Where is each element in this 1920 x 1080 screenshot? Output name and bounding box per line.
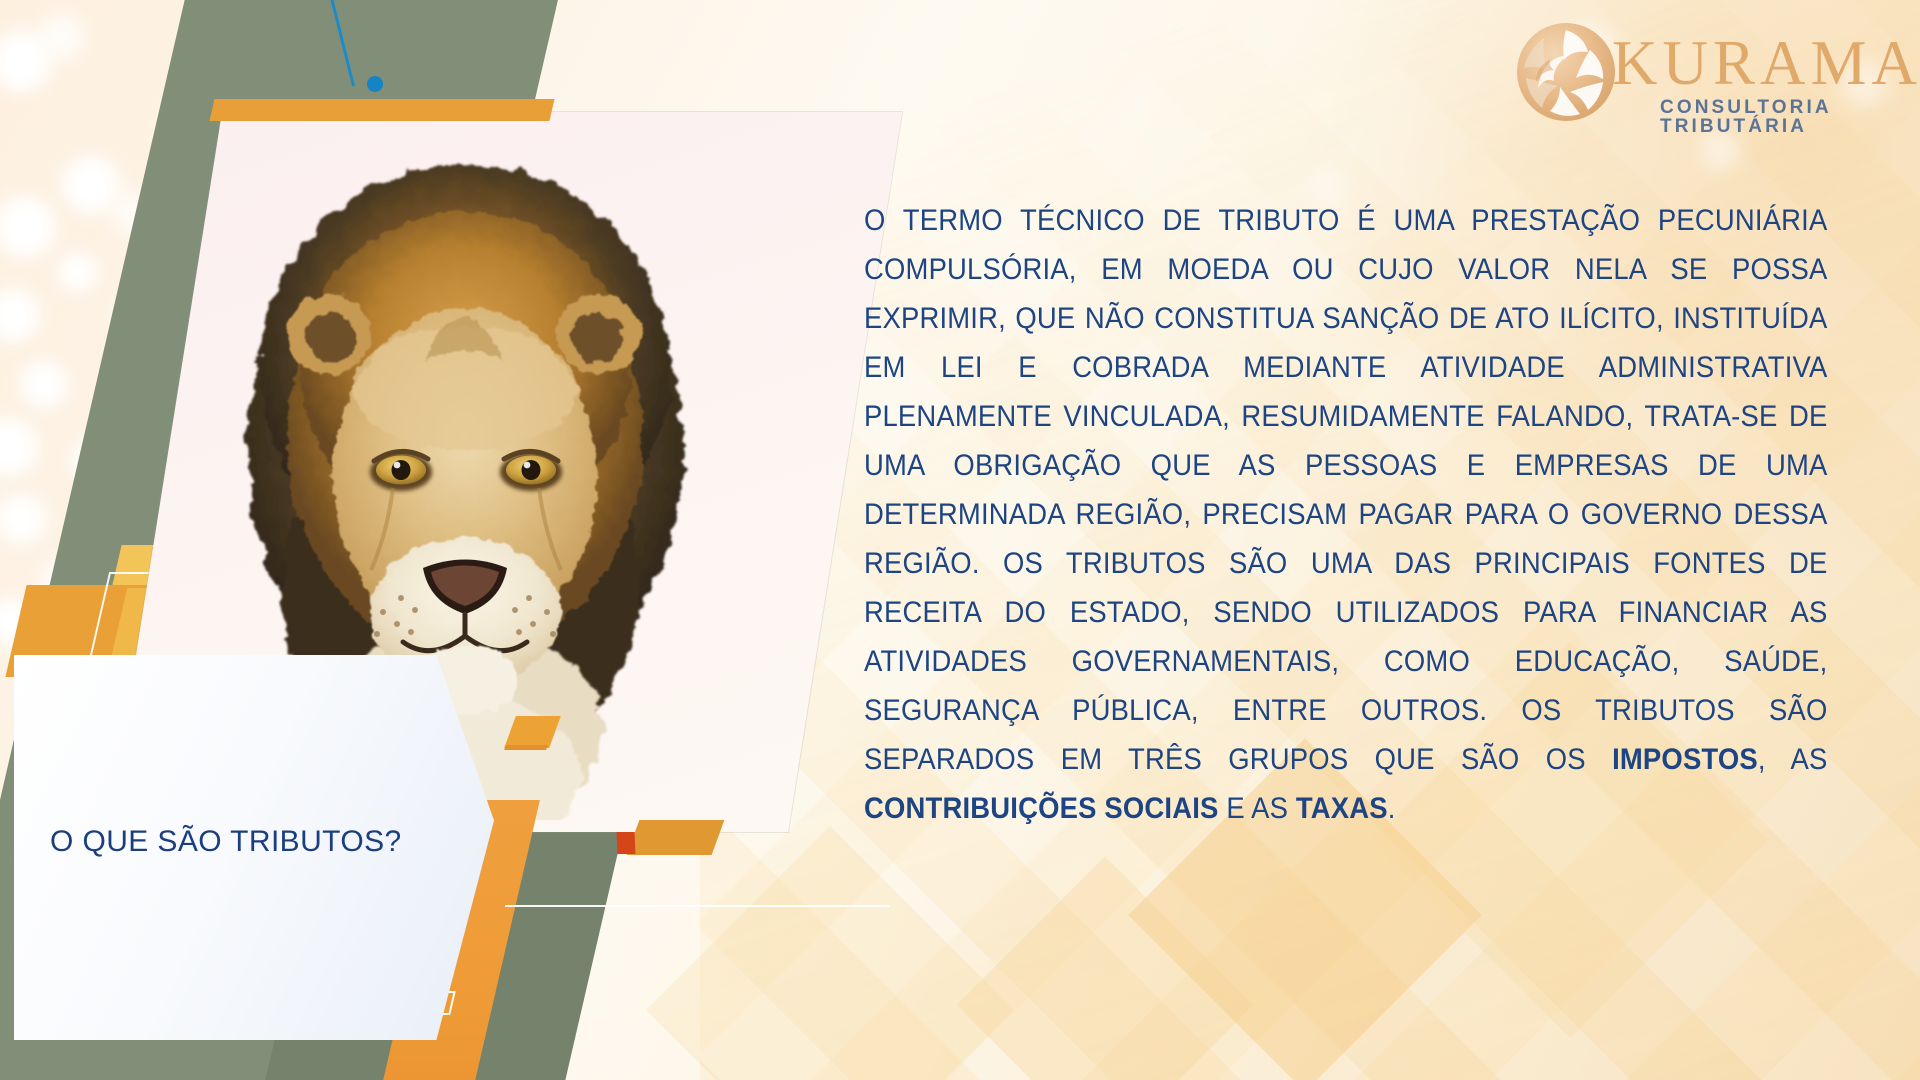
bokeh-dot — [20, 360, 68, 408]
body-text-mid-1: , AS — [1758, 743, 1828, 776]
bokeh-dot — [62, 156, 120, 214]
logo-wordmark: KURAMA — [1612, 32, 1920, 95]
globe-feather-icon — [1514, 20, 1618, 124]
body-text-mid-2: E AS — [1219, 792, 1296, 825]
decor-orange-chip-underline — [504, 745, 548, 750]
panel-top-orange-bar — [209, 99, 554, 121]
body-paragraph: O TERMO TÉCNICO DE TRIBUTO É UMA PRESTAÇ… — [864, 196, 1827, 833]
panel-bottom-orange-tab — [627, 820, 725, 855]
page-title: O QUE SÃO TRIBUTOS? — [50, 825, 450, 859]
term-impostos: IMPOSTOS — [1612, 743, 1758, 776]
body-text-end: . — [1388, 792, 1396, 825]
slide: O QUE SÃO TRIBUTOS? O TERMO TÉCNICO DE T… — [0, 0, 1920, 1080]
brand-logo: KURAMA CONSULTORIA TRIBUTÁRIA — [1514, 16, 1894, 128]
term-taxas: TAXAS — [1296, 792, 1388, 825]
accent-dot-icon — [367, 76, 383, 92]
bokeh-dot — [38, 14, 84, 60]
bokeh-dot — [58, 252, 98, 292]
logo-tagline: CONSULTORIA TRIBUTÁRIA — [1660, 98, 1894, 136]
decor-hairline — [505, 905, 890, 907]
title-card: O QUE SÃO TRIBUTOS? — [14, 655, 494, 1040]
term-contribuicoes-sociais: CONTRIBUIÇÕES SOCIAIS — [864, 792, 1219, 825]
body-text-intro: O TERMO TÉCNICO DE TRIBUTO É UMA PRESTAÇ… — [864, 204, 1827, 776]
